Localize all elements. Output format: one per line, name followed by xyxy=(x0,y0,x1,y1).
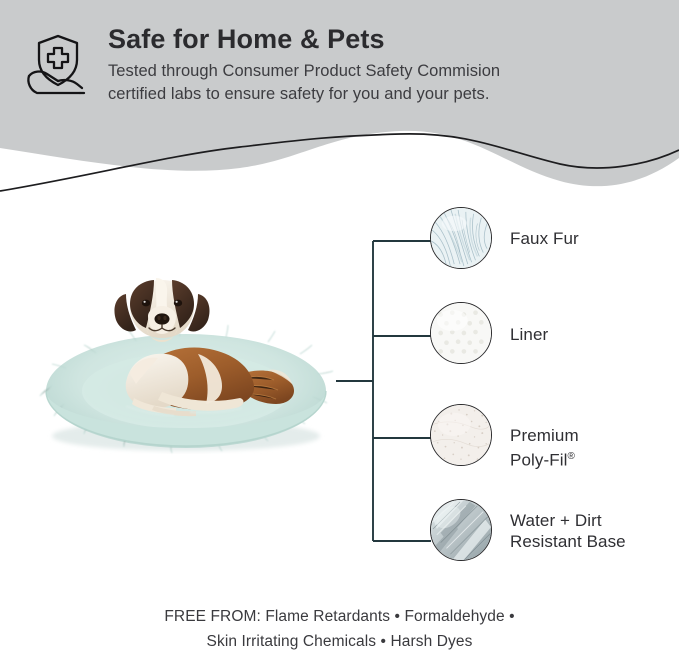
registered-trademark-symbol: ® xyxy=(567,451,574,462)
branching-connector-lines xyxy=(336,200,446,560)
callout-label-resistant-base: Water + Dirt Resistant Base xyxy=(510,510,626,552)
product-feature-infographic: Safe for Home & Pets Tested through Cons… xyxy=(0,0,679,655)
free-from-line-1: FREE FROM: Flame Retardants • Formaldehy… xyxy=(0,604,679,629)
poly-fil-swatch xyxy=(430,404,492,466)
callout-label-premium-poly-fil: Premium Poly-Fil® xyxy=(510,425,579,471)
header-text-block: Safe for Home & Pets Tested through Cons… xyxy=(108,22,668,106)
header-subtitle-line-1: Tested through Consumer Product Safety C… xyxy=(108,60,668,83)
callout-label-base-line-2: Resistant Base xyxy=(510,531,626,552)
faux-fur-swatch xyxy=(430,207,492,269)
poly-fil-text: Poly-Fil xyxy=(510,451,567,470)
product-photo-dog-in-bed xyxy=(30,258,350,458)
page-title: Safe for Home & Pets xyxy=(108,22,668,56)
shield-cross-in-hand-icon xyxy=(14,24,100,110)
callout-label-liner: Liner xyxy=(510,324,548,345)
callout-label-poly-line-1: Premium xyxy=(510,425,579,446)
callout-label-faux-fur: Faux Fur xyxy=(510,228,579,249)
liner-swatch xyxy=(430,302,492,364)
resistant-base-swatch xyxy=(430,499,492,561)
callout-label-base-line-1: Water + Dirt xyxy=(510,510,626,531)
header-subtitle-line-2: certified labs to ensure safety for you … xyxy=(108,83,668,106)
free-from-line-2: Skin Irritating Chemicals • Harsh Dyes xyxy=(0,629,679,654)
free-from-disclaimer: FREE FROM: Flame Retardants • Formaldehy… xyxy=(0,604,679,654)
callout-label-poly-line-2: Poly-Fil® xyxy=(510,446,579,471)
